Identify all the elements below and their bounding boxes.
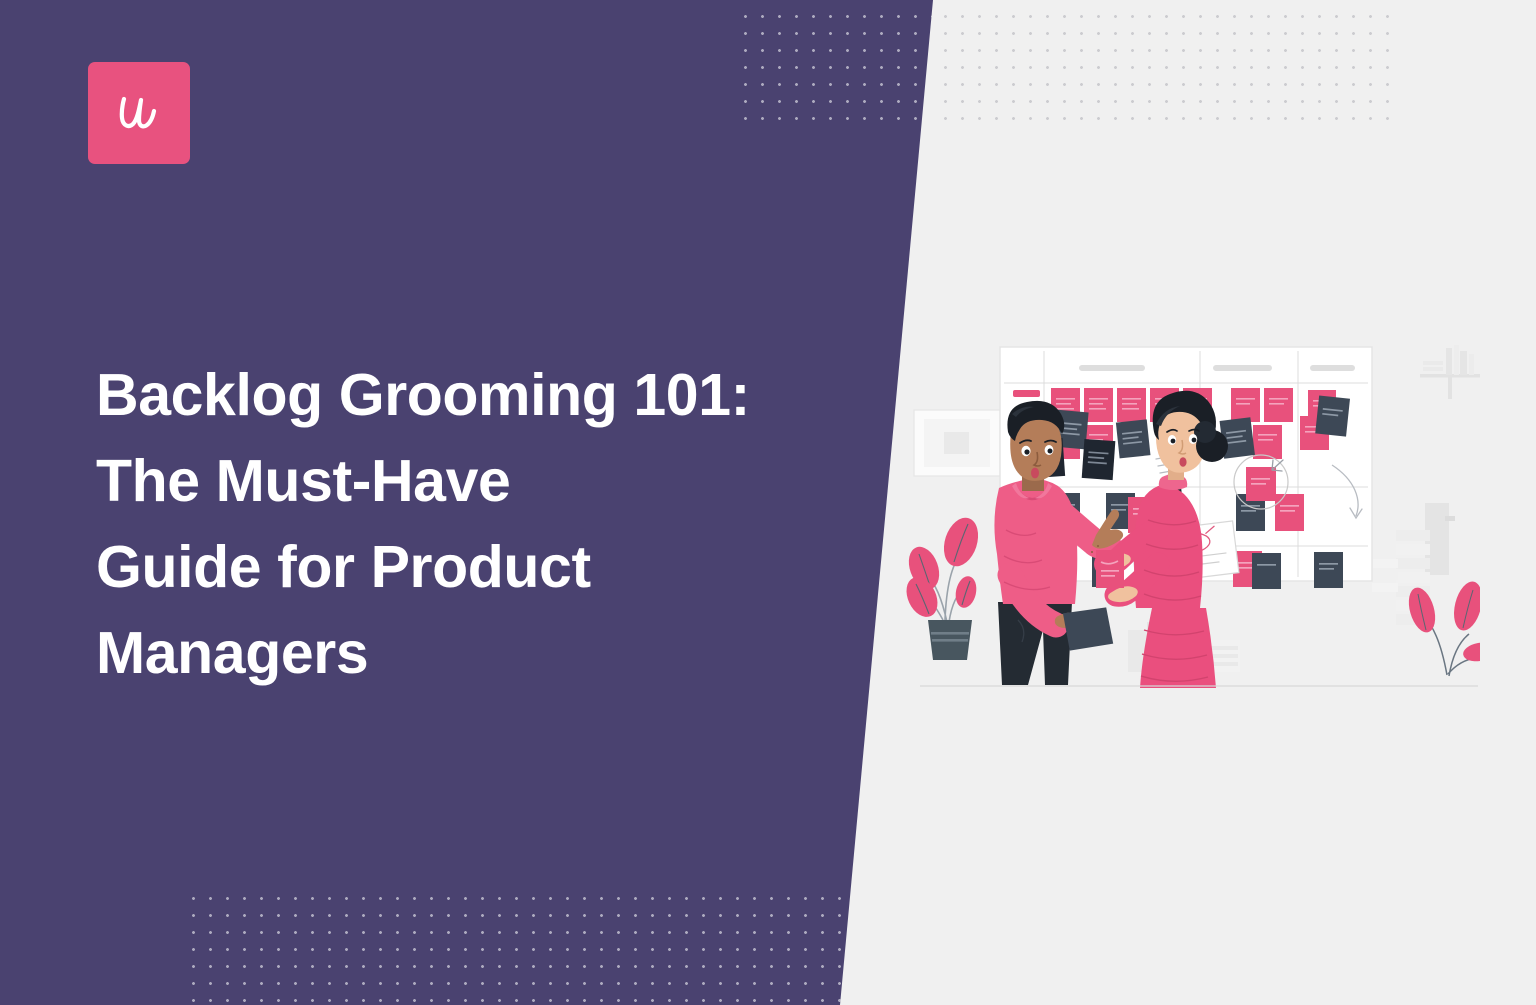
page-title: Backlog Grooming 101: The Must-Have Guid… [96,352,856,696]
potted-plant-left [900,513,984,660]
logo-letter-u-icon [108,82,170,144]
dot-grid-top [735,6,935,128]
userpilot-logo[interactable] [88,62,190,164]
potted-plant-right [1404,579,1480,676]
dot-grid-top-light [935,6,1395,128]
hero-banner: Backlog Grooming 101: The Must-Have Guid… [0,0,1536,1005]
bookshelf [1420,345,1480,399]
dot-grid-bottom [183,888,843,1005]
team-backlog-grooming-illustration [900,320,1480,720]
wall-picture-frame [914,410,1000,476]
